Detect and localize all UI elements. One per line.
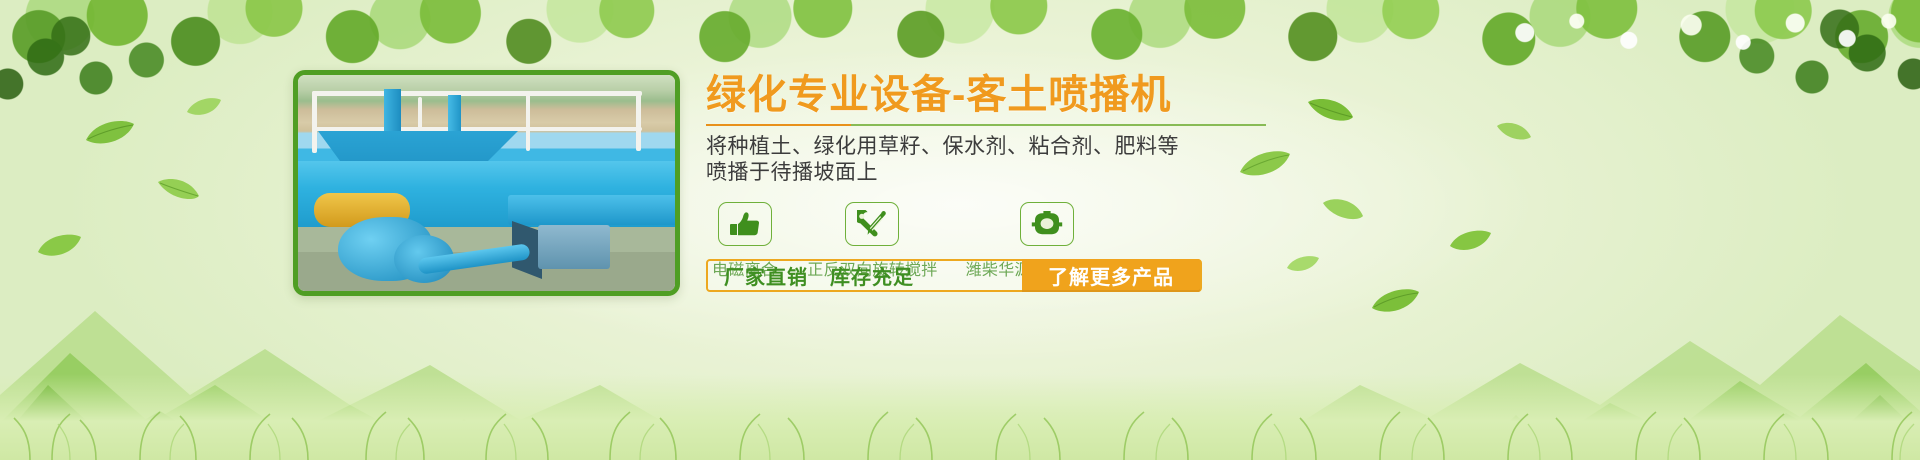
photo-blue-arm bbox=[508, 195, 680, 225]
wrench-screwdriver-icon bbox=[857, 210, 887, 238]
white-blossoms bbox=[1400, 0, 1920, 96]
subtitle-line-2: 喷播于待播坡面上 bbox=[706, 160, 1326, 186]
divider-green-segment bbox=[851, 124, 1266, 126]
divider-orange-segment bbox=[706, 124, 851, 126]
floating-leaf-icon bbox=[186, 96, 222, 118]
cta-text-left: 厂家直销 bbox=[724, 261, 808, 290]
floating-leaf-icon bbox=[1322, 196, 1364, 222]
feature-icon-box bbox=[845, 202, 899, 246]
floating-leaf-icon bbox=[1496, 120, 1532, 142]
thumbs-up-icon bbox=[730, 211, 760, 237]
grass-svg bbox=[0, 374, 1920, 460]
cta-text-right: 库存充足 bbox=[830, 261, 914, 290]
floating-leaf-icon bbox=[84, 118, 136, 148]
foliage-back-layer bbox=[0, 0, 1920, 62]
subtitle-line-1: 将种植土、绿化用草籽、保水剂、粘合剂、肥料等 bbox=[706, 134, 1326, 160]
promo-banner: 绿化专业设备-客土喷播机 将种植土、绿化用草籽、保水剂、粘合剂、肥料等 喷播于待… bbox=[0, 0, 1920, 460]
title-divider bbox=[706, 124, 1266, 126]
cta-text-group: 厂家直销 库存充足 bbox=[708, 261, 1022, 290]
grass-foreground bbox=[0, 374, 1920, 460]
banner-content: 绿化专业设备-客土喷播机 将种植土、绿化用草籽、保水剂、粘合剂、肥料等 喷播于待… bbox=[706, 72, 1326, 280]
learn-more-button[interactable]: 了解更多产品 bbox=[1022, 259, 1200, 292]
foliage-twig-right bbox=[1490, 0, 1920, 116]
product-photo[interactable] bbox=[293, 70, 680, 296]
floating-leaf-icon bbox=[156, 176, 200, 202]
foliage-front-layer bbox=[0, 0, 1920, 72]
feature-icon-box bbox=[1020, 202, 1074, 246]
product-photo-image bbox=[298, 75, 675, 291]
photo-gray-box bbox=[538, 225, 610, 269]
feature-icon-box bbox=[718, 202, 772, 246]
cta-bar: 厂家直销 库存充足 了解更多产品 bbox=[706, 259, 1202, 292]
page-title: 绿化专业设备-客土喷播机 bbox=[706, 72, 1326, 118]
engine-gear-icon bbox=[1031, 211, 1063, 238]
